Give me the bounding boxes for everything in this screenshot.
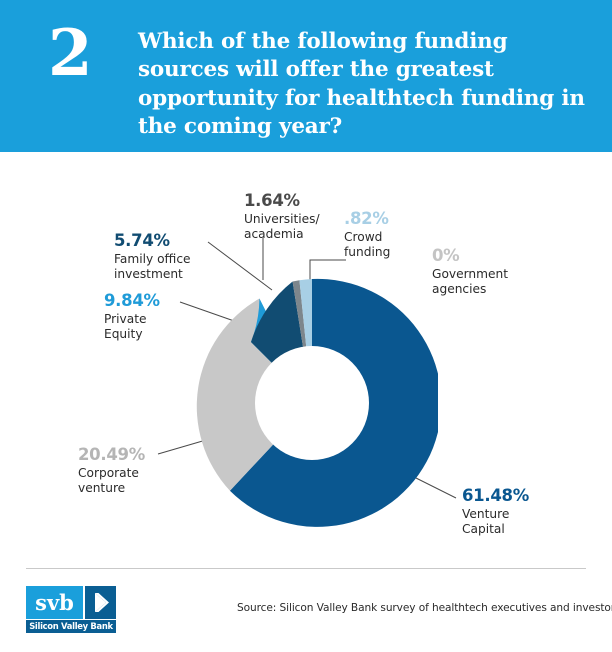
callout-pct-private-equity: 9.84% xyxy=(104,292,160,310)
callout-private-equity[interactable]: 9.84% Private Equity xyxy=(104,292,160,342)
source-note: Source: Silicon Valley Bank survey of he… xyxy=(237,602,612,614)
callout-name-government-agencies: Government agencies xyxy=(432,267,508,297)
callout-pct-family-office-investment: 5.74% xyxy=(114,232,191,250)
logo-wordmark: svb xyxy=(26,586,83,619)
chevron-right-icon xyxy=(85,586,116,619)
callout-universities-academia[interactable]: 1.64% Universities/ academia xyxy=(244,192,320,242)
callout-pct-universities-academia: 1.64% xyxy=(244,192,320,210)
callout-name-corporate-venture: Corporate venture xyxy=(78,466,145,496)
footer: svb Silicon Valley Bank Source: Silicon … xyxy=(0,569,612,652)
question-number: 2 xyxy=(48,22,92,86)
callout-name-venture-capital: Venture Capital xyxy=(462,507,529,537)
callout-pct-corporate-venture: 20.49% xyxy=(78,446,145,464)
svb-logo[interactable]: svb Silicon Valley Bank xyxy=(26,586,116,633)
header-band: 2 Which of the following funding sources… xyxy=(0,0,612,152)
callout-name-family-office-investment: Family office investment xyxy=(114,252,191,282)
callout-family-office-investment[interactable]: 5.74% Family office investment xyxy=(114,232,191,282)
chart-area: 1.64% Universities/ academia .82% Crowd … xyxy=(0,152,612,560)
callout-corporate-venture[interactable]: 20.49% Corporate venture xyxy=(78,446,145,496)
callout-crowd-funding[interactable]: .82% Crowd funding xyxy=(344,210,390,260)
callout-pct-crowd-funding: .82% xyxy=(344,210,390,228)
page-title: Which of the following funding sources w… xyxy=(138,28,588,142)
donut-chart-svg xyxy=(186,277,438,529)
callout-name-universities-academia: Universities/ academia xyxy=(244,212,320,242)
callout-pct-government-agencies: 0% xyxy=(432,247,508,265)
callout-government-agencies[interactable]: 0% Government agencies xyxy=(432,247,508,297)
callout-name-private-equity: Private Equity xyxy=(104,312,160,342)
callout-name-crowd-funding: Crowd funding xyxy=(344,230,390,260)
donut-hole xyxy=(255,346,369,460)
callout-pct-venture-capital: 61.48% xyxy=(462,487,529,505)
donut-chart xyxy=(186,277,438,529)
logo-name: Silicon Valley Bank xyxy=(26,620,116,633)
logo-top-row: svb xyxy=(26,586,116,619)
callout-venture-capital[interactable]: 61.48% Venture Capital xyxy=(462,487,529,537)
